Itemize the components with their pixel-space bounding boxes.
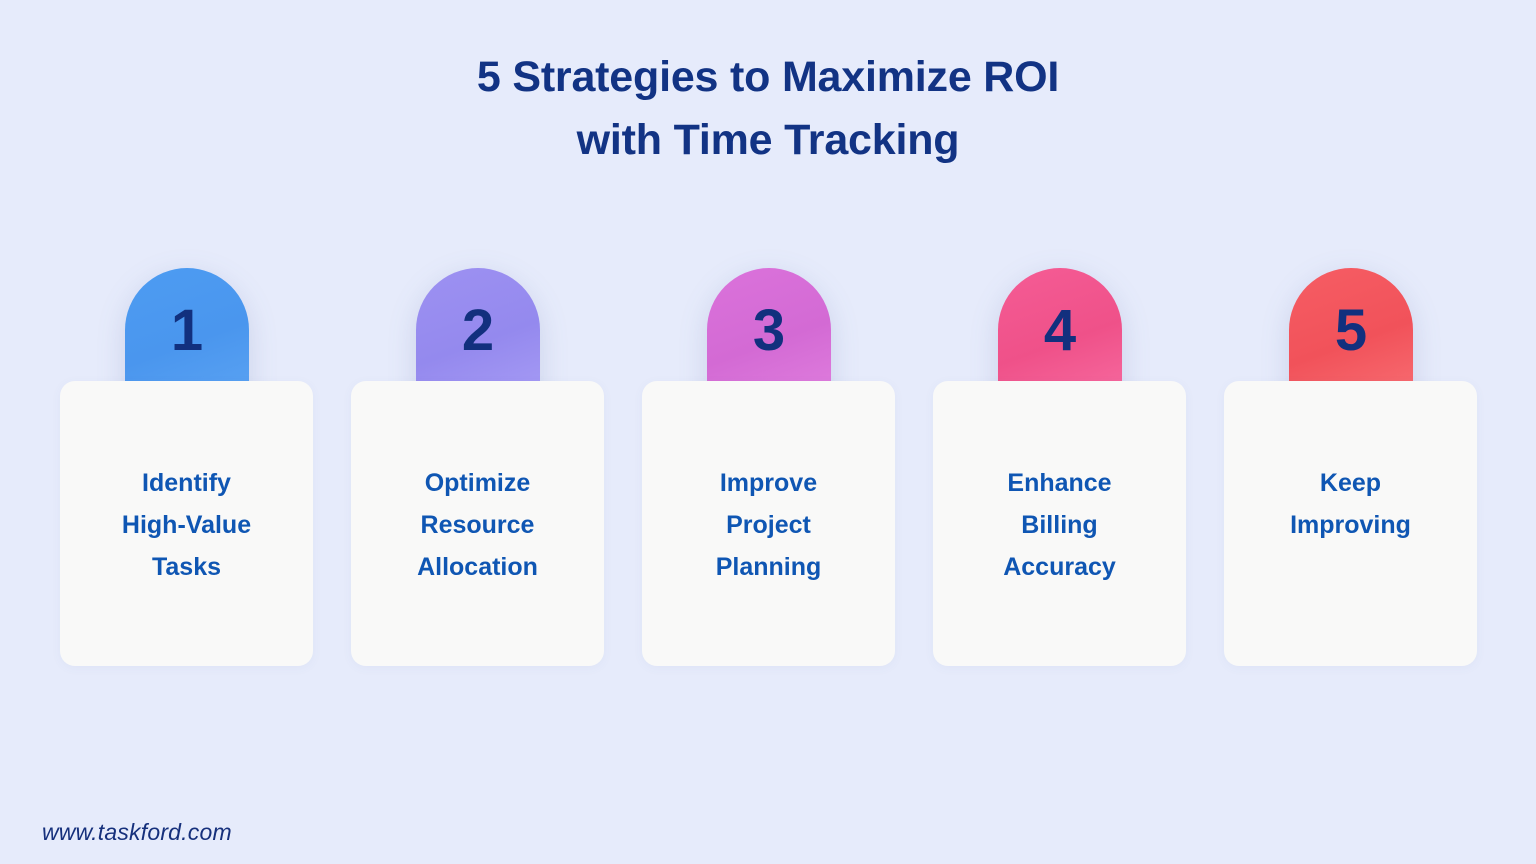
- strategy-card-body-5[interactable]: Keep Improving: [1224, 381, 1477, 666]
- step-number-5: 5: [1335, 302, 1366, 360]
- step-number-3: 3: [753, 302, 784, 360]
- title-line-2: with Time Tracking: [0, 109, 1536, 172]
- strategy-label-2: Optimize Resource Allocation: [407, 462, 548, 588]
- strategy-cards-row: 1 Identify High-Value Tasks 2 Optimize R…: [60, 268, 1477, 666]
- title-line-1: 5 Strategies to Maximize ROI: [0, 46, 1536, 109]
- strategy-card-body-2[interactable]: Optimize Resource Allocation: [351, 381, 604, 666]
- step-number-1: 1: [171, 302, 202, 360]
- strategy-card-5[interactable]: 5 Keep Improving: [1224, 268, 1477, 666]
- page-title: 5 Strategies to Maximize ROI with Time T…: [0, 46, 1536, 172]
- step-number-4: 4: [1044, 302, 1075, 360]
- strategy-label-4: Enhance Billing Accuracy: [993, 462, 1126, 588]
- strategy-card-body-4[interactable]: Enhance Billing Accuracy: [933, 381, 1186, 666]
- footer-website-url[interactable]: www.taskford.com: [42, 816, 232, 848]
- infographic-poster: 5 Strategies to Maximize ROI with Time T…: [0, 0, 1536, 864]
- strategy-card-body-1[interactable]: Identify High-Value Tasks: [60, 381, 313, 666]
- strategy-card-4[interactable]: 4 Enhance Billing Accuracy: [933, 268, 1186, 666]
- strategy-label-3: Improve Project Planning: [706, 462, 832, 588]
- strategy-label-5: Keep Improving: [1280, 462, 1421, 546]
- strategy-label-1: Identify High-Value Tasks: [112, 462, 261, 588]
- step-number-2: 2: [462, 302, 493, 360]
- strategy-card-body-3[interactable]: Improve Project Planning: [642, 381, 895, 666]
- strategy-card-1[interactable]: 1 Identify High-Value Tasks: [60, 268, 313, 666]
- strategy-card-3[interactable]: 3 Improve Project Planning: [642, 268, 895, 666]
- strategy-card-2[interactable]: 2 Optimize Resource Allocation: [351, 268, 604, 666]
